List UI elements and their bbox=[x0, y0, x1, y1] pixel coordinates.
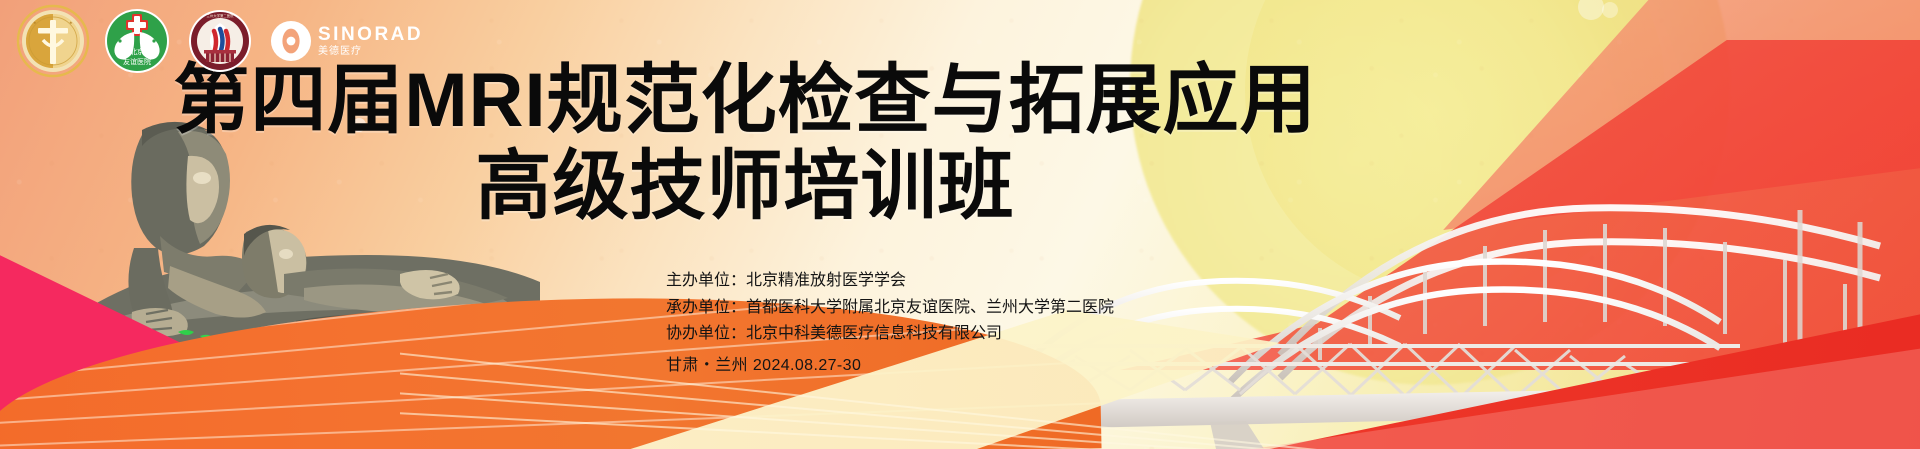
beijing-friendship-hospital-logo: 北京 友谊医院 bbox=[104, 8, 170, 74]
green-logo-line2: 友谊医院 bbox=[123, 57, 151, 66]
sinorad-brand-text: SINORAD bbox=[318, 25, 423, 44]
organizer-info-block: 主办单位：北京精准放射医学学会 承办单位：首都医科大学附属北京友谊医院、兰州大学… bbox=[666, 268, 1114, 379]
lanzhou-university-second-hospital-logo: 兰州大学第二医院 bbox=[188, 9, 252, 73]
sinorad-logo: SINORAD 美德医疗 bbox=[270, 20, 423, 62]
location-date-line: 甘肃・兰州 2024.08.27-30 bbox=[666, 353, 1114, 380]
bokeh-dot bbox=[1602, 2, 1618, 18]
banner-title: 第四届MRI规范化检查与拓展应用 高级技师培训班 bbox=[0, 62, 1490, 225]
sinorad-brand-cn-text: 美德医疗 bbox=[318, 47, 423, 57]
coorganizer-line: 协办单位：北京中科美德医疗信息科技有限公司 bbox=[666, 321, 1114, 348]
organizer-line: 主办单位：北京精准放射医学学会 bbox=[666, 268, 1114, 295]
logo-row: ★★ 北京 bbox=[16, 4, 423, 78]
conference-banner: ★★ 北京 bbox=[0, 0, 1920, 449]
gold-emblem-logo: ★★ bbox=[16, 4, 90, 78]
svg-text:兰州大学第二医院: 兰州大学第二医院 bbox=[206, 13, 234, 18]
title-line-2: 高级技师培训班 bbox=[0, 148, 1490, 226]
sinorad-mark-icon bbox=[270, 20, 312, 62]
green-logo-line1: 北京 bbox=[130, 47, 144, 56]
host-line: 承办单位：首都医科大学附属北京友谊医院、兰州大学第二医院 bbox=[666, 295, 1114, 322]
